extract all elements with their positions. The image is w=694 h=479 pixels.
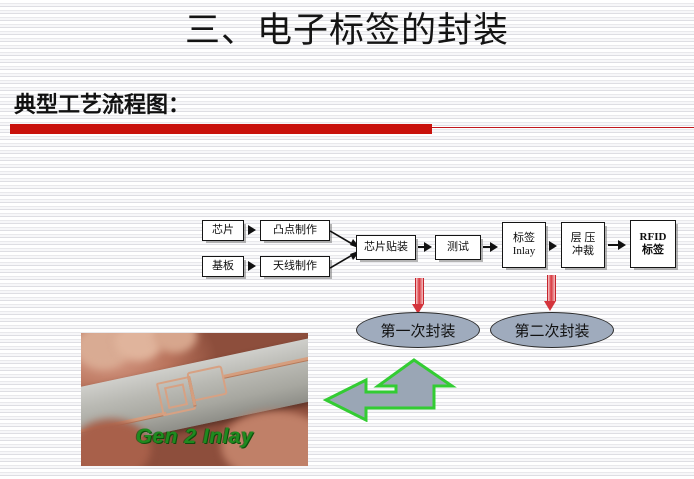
arrow-substrate-to-antenna-icon xyxy=(248,261,256,271)
accent-bar xyxy=(10,124,432,134)
red-arrow-to-first-package-icon xyxy=(412,278,425,314)
section-subtitle: 典型工艺流程图： xyxy=(14,87,190,119)
photo-caption: Gen 2 Inlay xyxy=(81,425,308,449)
flow-box-bump[interactable]: 凸点制作 xyxy=(260,220,330,241)
stage-ellipse-second-package[interactable]: 第二次封装 xyxy=(490,312,614,348)
flow-box-chip[interactable]: 芯片 xyxy=(202,220,244,241)
antenna-trace-right xyxy=(224,354,308,378)
arrow-lamination-to-rfid-icon xyxy=(618,240,626,250)
stage-ellipse-first-package[interactable]: 第一次封装 xyxy=(356,312,480,348)
red-arrow-to-second-package-icon xyxy=(544,275,557,311)
bent-arrow-icon xyxy=(322,358,462,422)
flow-box-inlay[interactable]: 标签 Inlay xyxy=(502,222,546,268)
inlay-photo: Gen 2 Inlay xyxy=(81,333,308,466)
flow-box-die-attach[interactable]: 芯片贴装 xyxy=(356,235,416,260)
arrow-chip-to-bump-icon xyxy=(248,225,256,235)
flow-box-lamination[interactable]: 层 压 冲裁 xyxy=(561,222,605,268)
flow-box-rfid-tag[interactable]: RFID 标签 xyxy=(630,220,676,268)
arrow-die-attach-to-test-icon xyxy=(424,242,432,252)
slide-canvas: 三、电子标签的封装 典型工艺流程图： 芯片 凸点制作 基板 天线制作 芯片贴装 … xyxy=(0,0,694,479)
flow-box-antenna[interactable]: 天线制作 xyxy=(260,256,330,277)
antenna-coil-inner xyxy=(164,383,188,409)
arrow-inlay-to-lamination-icon xyxy=(549,241,557,251)
page-title: 三、电子标签的封装 xyxy=(0,8,694,54)
flow-box-test[interactable]: 测试 xyxy=(435,235,481,260)
flow-box-substrate[interactable]: 基板 xyxy=(202,256,244,277)
arrow-test-to-inlay-icon xyxy=(490,242,498,252)
